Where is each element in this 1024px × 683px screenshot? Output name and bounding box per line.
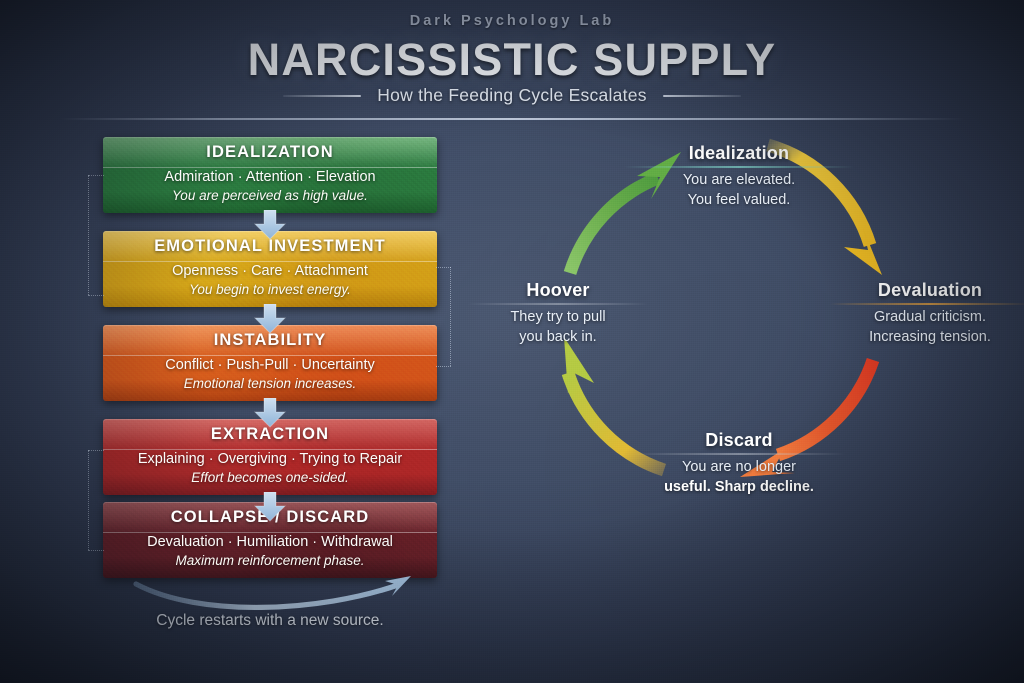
stage-connector-arrow bbox=[252, 492, 288, 522]
stage-tags: Admiration · Attention · Elevation bbox=[103, 169, 437, 185]
dotted-bracket-left-lower-vertical bbox=[88, 450, 89, 550]
cycle-node-discard-line-2: useful. Sharp decline. bbox=[633, 478, 845, 498]
stage-tags: Devaluation · Humiliation · Withdrawal bbox=[103, 534, 437, 550]
stage-bar-instability[interactable]: INSTABILITYConflict · Push-Pull · Uncert… bbox=[103, 325, 437, 401]
dotted-bracket-left-lower-top bbox=[88, 450, 104, 451]
stage-connector-arrow bbox=[252, 210, 288, 240]
subtitle-rule-right bbox=[663, 95, 741, 97]
stage-note: You begin to invest energy. bbox=[103, 282, 437, 297]
dotted-bracket-left-upper-top bbox=[88, 175, 104, 176]
stage-bar-extraction[interactable]: EXTRACTIONExplaining · Overgiving · Tryi… bbox=[103, 419, 437, 495]
restart-caption: Cycle restarts with a new source. bbox=[103, 612, 437, 630]
stage-note: Effort becomes one-sided. bbox=[103, 470, 437, 485]
cycle-node-discard-title: Discard bbox=[633, 430, 845, 451]
header-divider bbox=[60, 118, 964, 120]
infographic-canvas: Dark Psychology Lab NARCISSISTIC SUPPLY … bbox=[0, 0, 1024, 683]
cycle-node-devaluation-glow bbox=[830, 303, 1024, 305]
stage-title: IDEALIZATION bbox=[103, 143, 437, 162]
cycle-node-hoover: Hoover They try to pull you back in. bbox=[468, 280, 648, 347]
cycle-node-idealization-line-2: You feel valued. bbox=[624, 191, 854, 211]
dotted-bracket-right-vertical bbox=[450, 267, 451, 366]
stage-note: Emotional tension increases. bbox=[103, 376, 437, 391]
cycle-node-hoover-line-1: They try to pull bbox=[468, 308, 648, 328]
stage-bar-idealization[interactable]: IDEALIZATIONAdmiration · Attention · Ele… bbox=[103, 137, 437, 213]
cycle-restart-arrow bbox=[130, 568, 430, 613]
cycle-node-idealization-line-1: You are elevated. bbox=[624, 171, 854, 191]
cycle-node-idealization: Idealization You are elevated. You feel … bbox=[624, 143, 854, 210]
dotted-bracket-left-lower-bottom bbox=[88, 550, 104, 551]
cycle-node-hoover-title: Hoover bbox=[468, 280, 648, 301]
cycle-node-discard-line-1: You are no longer bbox=[633, 458, 845, 478]
stage-tags: Openness · Care · Attachment bbox=[103, 263, 437, 279]
dotted-bracket-right-top bbox=[436, 267, 451, 268]
stage-tags: Conflict · Push-Pull · Uncertainty bbox=[103, 357, 437, 373]
stage-tags: Explaining · Overgiving · Trying to Repa… bbox=[103, 451, 437, 467]
cycle-node-discard: Discard You are no longer useful. Sharp … bbox=[633, 430, 845, 497]
dotted-bracket-left-upper-vertical bbox=[88, 175, 89, 295]
cycle-node-discard-glow bbox=[633, 453, 845, 455]
cycle-node-hoover-line-2: you back in. bbox=[468, 328, 648, 348]
stage-connector-arrow bbox=[252, 304, 288, 334]
cycle-node-hoover-glow bbox=[468, 303, 648, 305]
page-title: NARCISSISTIC SUPPLY bbox=[0, 34, 1024, 86]
stage-connector-arrow bbox=[252, 398, 288, 428]
subtitle-row: How the Feeding Cycle Escalates bbox=[0, 85, 1024, 106]
cycle-node-devaluation: Devaluation Gradual criticism. Increasin… bbox=[830, 280, 1024, 347]
stage-note: You are perceived as high value. bbox=[103, 188, 437, 203]
cycle-node-idealization-glow bbox=[624, 166, 854, 168]
cycle-node-idealization-title: Idealization bbox=[624, 143, 854, 164]
dotted-bracket-left-upper-bottom bbox=[88, 295, 104, 296]
feeding-cycle-diagram: Idealization You are elevated. You feel … bbox=[478, 125, 1024, 525]
cycle-node-devaluation-line-1: Gradual criticism. bbox=[830, 308, 1024, 328]
stage-bar-emotional-investment[interactable]: EMOTIONAL INVESTMENTOpenness · Care · At… bbox=[103, 231, 437, 307]
cycle-node-devaluation-line-2: Increasing tension. bbox=[830, 328, 1024, 348]
cycle-node-devaluation-title: Devaluation bbox=[830, 280, 1024, 301]
kicker-label: Dark Psychology Lab bbox=[0, 13, 1024, 29]
subtitle-rule-left bbox=[283, 95, 361, 97]
stage-note: Maximum reinforcement phase. bbox=[103, 553, 437, 568]
subtitle: How the Feeding Cycle Escalates bbox=[377, 85, 646, 106]
dotted-bracket-right-bottom bbox=[436, 366, 451, 367]
